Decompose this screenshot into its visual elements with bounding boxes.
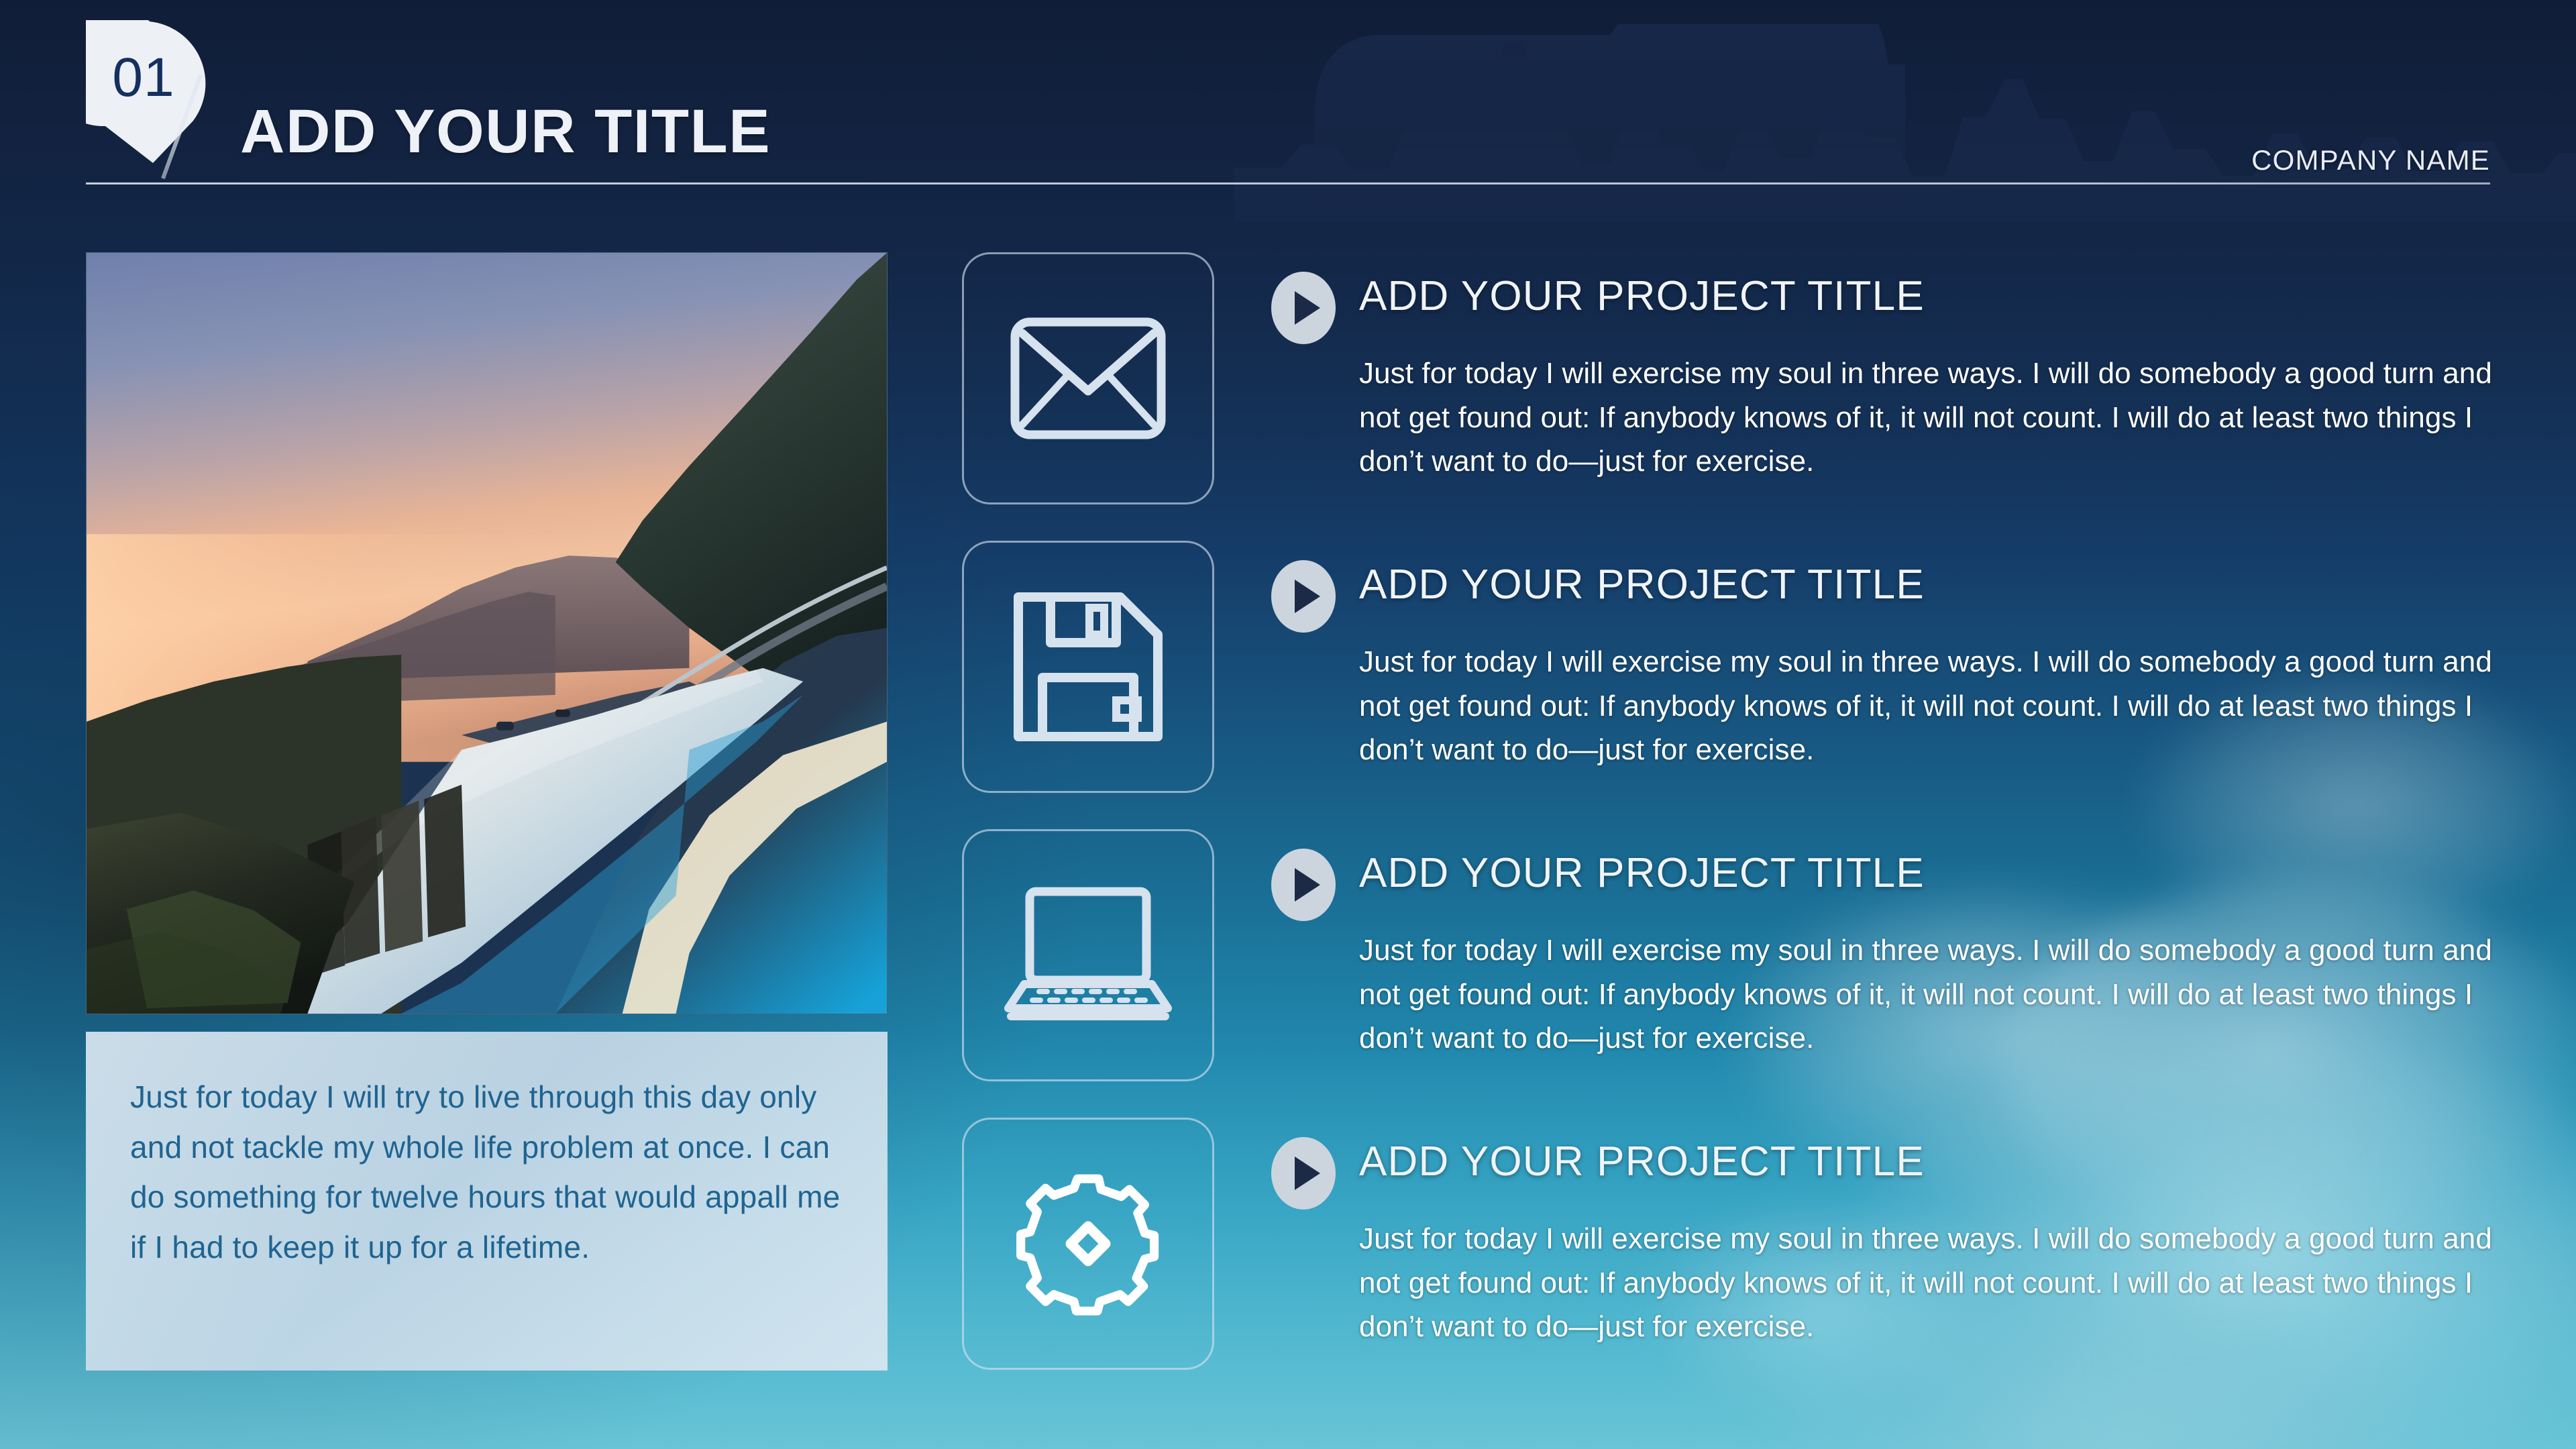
presentation-slide: 01 ADD YOUR TITLE COMPANY NAME	[0, 0, 2576, 1449]
project-description: Just for today I will exercise my soul i…	[1359, 928, 2526, 1061]
project-title: ADD YOUR PROJECT TITLE	[1359, 1138, 1925, 1185]
project-title: ADD YOUR PROJECT TITLE	[1359, 272, 1925, 320]
company-name-label: COMPANY NAME	[2251, 144, 2490, 176]
gear-icon	[1008, 1163, 1169, 1324]
photo-caption-text: Just for today I will try to live throug…	[130, 1072, 843, 1272]
floppy-disk-icon	[1009, 588, 1167, 746]
feature-photo	[86, 252, 888, 1014]
icon-tile-envelope[interactable]	[962, 252, 1214, 504]
laptop-icon	[1004, 885, 1172, 1026]
icon-tile-settings[interactable]	[962, 1118, 1214, 1370]
list-item[interactable]: ADD YOUR PROJECT TITLE Just for today I …	[962, 252, 2525, 541]
project-description: Just for today I will exercise my soul i…	[1359, 352, 2526, 484]
play-button[interactable]	[1271, 848, 1336, 922]
icon-tile-laptop[interactable]	[962, 829, 1214, 1081]
project-title: ADD YOUR PROJECT TITLE	[1359, 561, 1925, 608]
list-item[interactable]: ADD YOUR PROJECT TITLE Just for today I …	[962, 829, 2525, 1118]
photo-caption-box: Just for today I will try to live throug…	[86, 1032, 888, 1371]
page-title: ADD YOUR TITLE	[240, 101, 771, 162]
project-description: Just for today I will exercise my soul i…	[1359, 640, 2526, 772]
slide-header: 01 ADD YOUR TITLE COMPANY NAME	[0, 0, 2576, 201]
play-button[interactable]	[1271, 1136, 1336, 1210]
list-item[interactable]: ADD YOUR PROJECT TITLE Just for today I …	[962, 1118, 2525, 1406]
play-button[interactable]	[1271, 271, 1336, 345]
icon-tile-save[interactable]	[962, 541, 1214, 793]
header-divider-rule	[86, 182, 2490, 184]
project-list: ADD YOUR PROJECT TITLE Just for today I …	[962, 252, 2525, 1406]
project-title: ADD YOUR PROJECT TITLE	[1359, 849, 1925, 897]
envelope-icon	[1010, 317, 1166, 439]
list-item[interactable]: ADD YOUR PROJECT TITLE Just for today I …	[962, 541, 2525, 829]
play-button[interactable]	[1271, 559, 1336, 633]
project-description: Just for today I will exercise my soul i…	[1359, 1217, 2526, 1349]
